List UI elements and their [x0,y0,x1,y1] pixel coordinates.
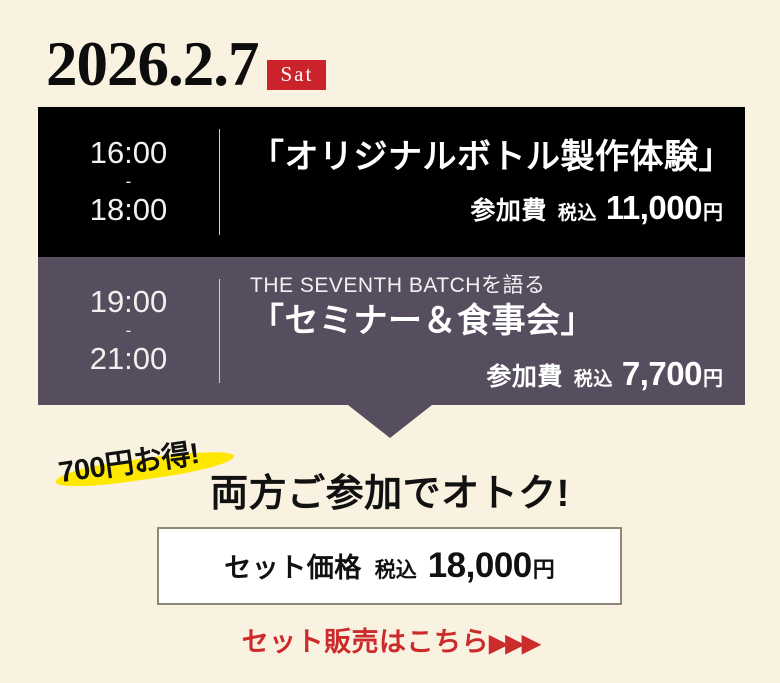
schedule-panel: 16:00 - 18:00 「オリジナルボトル製作体験」 参加費 税込 11,0… [38,107,745,405]
price-amount-2: 7,700 [622,355,702,393]
time-cell-2: 19:00 - 21:00 [38,257,219,405]
price-line-1: 参加費 税込 11,000 円 [250,189,723,227]
set-price-unit: 円 [533,552,555,584]
time-dash-1: - [126,173,132,190]
info-cell-1: 「オリジナルボトル製作体験」 参加費 税込 11,000 円 [220,107,745,257]
cta-label: セット販売はこちら [242,627,490,657]
end-time-1: 18:00 [90,194,168,227]
event-poster: 2026.2.7 Sat 16:00 - 18:00 「オリジナルボトル製作体験… [0,0,780,683]
end-time-2: 21:00 [90,343,168,376]
start-time-2: 19:00 [90,286,168,319]
price-line-2: 参加費 税込 7,700 円 [250,355,723,393]
event-title-2: 「セミナー＆食事会」 [250,301,723,341]
schedule-row-2: 19:00 - 21:00 THE SEVENTH BATCHを語る 「セミナー… [38,257,745,405]
set-price-amount: 18,000 [428,546,532,586]
price-tax-1: 税込 [558,198,597,225]
schedule-row-1: 16:00 - 18:00 「オリジナルボトル製作体験」 参加費 税込 11,0… [38,107,745,257]
price-label-2: 参加費 [486,357,563,393]
set-price-tax: 税込 [375,554,417,584]
start-time-1: 16:00 [90,137,168,170]
info-cell-2: THE SEVENTH BATCHを語る 「セミナー＆食事会」 参加費 税込 7… [220,257,745,405]
time-cell-1: 16:00 - 18:00 [38,107,219,257]
event-title-1: 「オリジナルボトル製作体験」 [250,137,723,177]
price-unit-1: 円 [703,196,723,225]
day-of-week-badge: Sat [267,60,327,90]
date-header: 2026.2.7 Sat [46,24,326,96]
cta-arrows-icon: ▶▶▶ [489,630,538,657]
set-sale-cta-link[interactable]: セット販売はこちら▶▶▶ [0,620,780,659]
promo-headline: 両方ご参加でオトク! [0,462,780,517]
price-unit-2: 円 [703,362,723,391]
price-label-1: 参加費 [470,191,547,227]
time-dash-2: - [126,322,132,339]
set-price-box: セット価格 税込 18,000 円 [157,527,622,605]
price-amount-1: 11,000 [606,189,702,227]
set-price-inner: セット価格 税込 18,000 円 [224,546,555,586]
event-date: 2026.2.7 [46,33,259,96]
down-arrow-icon [348,405,432,438]
event-subtitle-2: THE SEVENTH BATCHを語る [250,269,723,299]
set-price-label: セット価格 [224,546,362,585]
price-tax-2: 税込 [574,364,613,391]
